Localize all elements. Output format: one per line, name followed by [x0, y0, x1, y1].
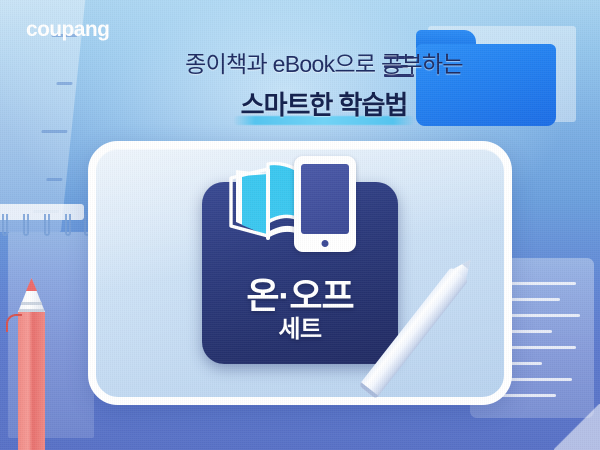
headline-line-2-wrap: 스마트한 학습법: [241, 85, 408, 122]
texture-overlay: [0, 0, 600, 450]
promo-banner: coupang 종이책과 eBook으로 공부하는 스마트한 학습법: [0, 0, 600, 450]
headline-line-2: 스마트한 학습법: [241, 90, 408, 120]
